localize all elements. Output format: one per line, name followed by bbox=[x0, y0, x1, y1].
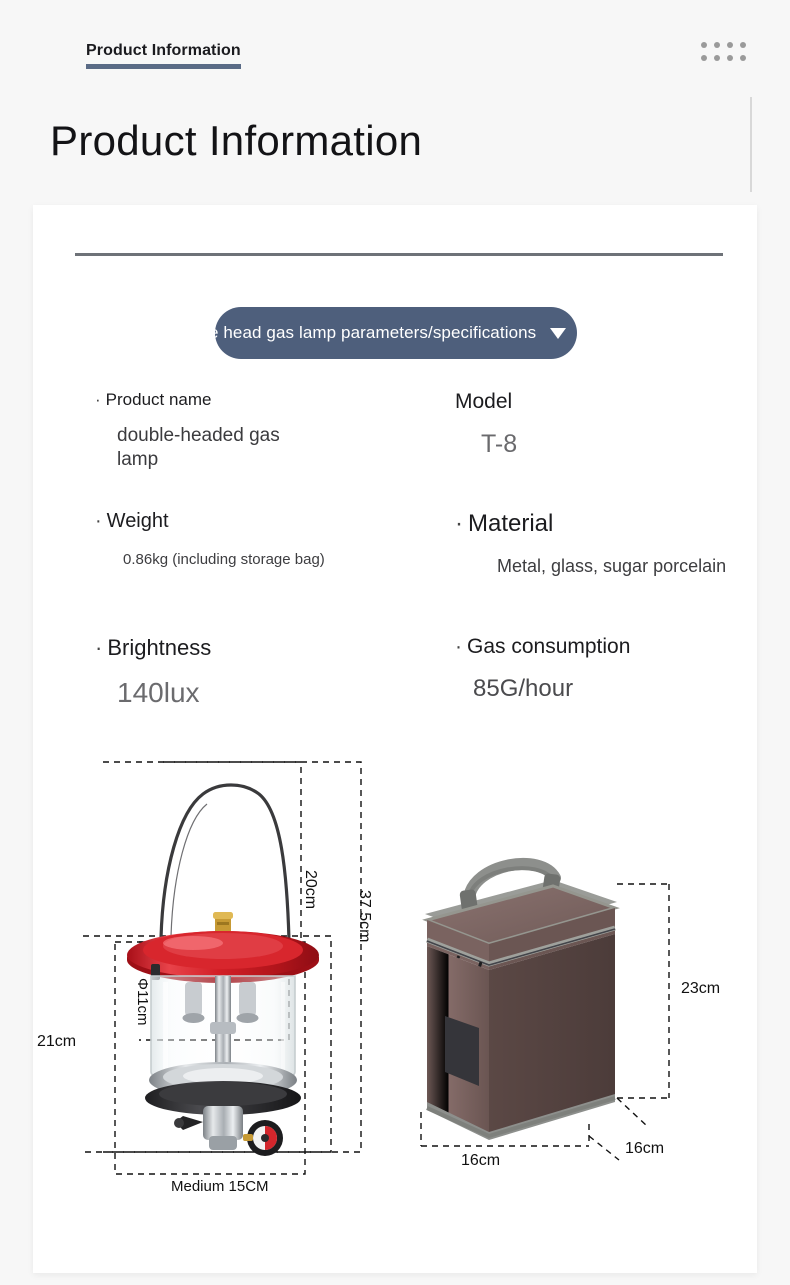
spec-label-text: Material bbox=[468, 510, 553, 537]
spec-model: Model T-8 bbox=[455, 390, 517, 460]
breadcrumb[interactable]: Product Information bbox=[86, 42, 241, 69]
spec-label: ·Weight bbox=[95, 510, 325, 533]
spec-label: ·Gas consumption bbox=[455, 635, 630, 659]
spec-label: ·Material bbox=[455, 510, 726, 538]
bullet-icon: · bbox=[95, 510, 102, 532]
spec-weight: ·Weight 0.86kg (including storage bag) bbox=[95, 510, 325, 568]
lamp-illustration bbox=[43, 750, 393, 1220]
bullet-icon: · bbox=[95, 635, 102, 660]
spec-label-text: Product name bbox=[106, 390, 212, 409]
dot bbox=[714, 55, 720, 61]
spec-label: Model bbox=[455, 390, 517, 414]
spec-label-text: Weight bbox=[107, 510, 169, 532]
dot bbox=[727, 55, 733, 61]
spec-value: Metal, glass, sugar porcelain bbox=[497, 556, 726, 577]
dot bbox=[740, 55, 746, 61]
dot bbox=[740, 42, 746, 48]
dot bbox=[727, 42, 733, 48]
spec-brightness: ·Brightness 140lux bbox=[95, 635, 211, 709]
parameters-banner-label: e head gas lamp parameters/specification… bbox=[215, 323, 536, 343]
dot bbox=[701, 55, 707, 61]
bag-diagram: 23cm 16cm 16cm bbox=[403, 840, 753, 1220]
spec-label-text: Gas consumption bbox=[467, 635, 630, 658]
top-bar: Product Information bbox=[0, 0, 790, 95]
triangle-down-icon bbox=[550, 328, 566, 339]
spec-label: ·Product name bbox=[95, 390, 280, 410]
spec-label-text: Brightness bbox=[107, 635, 211, 660]
spec-gas-consumption: ·Gas consumption 85G/hour bbox=[455, 635, 630, 703]
spec-value: 140lux bbox=[117, 677, 211, 709]
lamp-dim-handle-height: 20cm bbox=[301, 870, 319, 909]
spec-value: 0.86kg (including storage bag) bbox=[123, 551, 325, 568]
lamp-diagram: 20cm 37.5cm 21cm Φ11cm Medium 15CM bbox=[43, 750, 393, 1220]
vertical-accent-line bbox=[750, 97, 752, 192]
lamp-dim-width: Medium 15CM bbox=[171, 1178, 269, 1195]
dot bbox=[714, 42, 720, 48]
spec-material: ·Material Metal, glass, sugar porcelain bbox=[455, 510, 726, 577]
spec-label: ·Brightness bbox=[95, 635, 211, 661]
dimension-diagrams: 20cm 37.5cm 21cm Φ11cm Medium 15CM bbox=[33, 750, 757, 1250]
bag-illustration bbox=[403, 840, 753, 1220]
bag-dim-width: 16cm bbox=[461, 1152, 500, 1170]
spec-value: double-headed gas lamp bbox=[117, 424, 280, 473]
bullet-icon: · bbox=[455, 635, 462, 658]
parameters-banner[interactable]: e head gas lamp parameters/specification… bbox=[215, 307, 577, 359]
lamp-dim-total-height: 37.5cm bbox=[355, 890, 373, 942]
bag-dim-height: 23cm bbox=[681, 980, 720, 998]
dot-grid-icon[interactable] bbox=[701, 42, 746, 61]
spec-label-text: Model bbox=[455, 390, 512, 413]
bullet-icon: · bbox=[455, 510, 463, 537]
dot bbox=[701, 42, 707, 48]
spec-product-name: ·Product name double-headed gas lamp bbox=[95, 390, 280, 473]
bullet-icon: · bbox=[95, 390, 101, 409]
page-title: Product Information bbox=[50, 117, 422, 165]
bag-dim-depth: 16cm bbox=[625, 1140, 664, 1158]
spec-value: T-8 bbox=[481, 428, 517, 460]
product-info-card: e head gas lamp parameters/specification… bbox=[33, 205, 757, 1273]
spec-value: 85G/hour bbox=[473, 675, 630, 703]
lamp-dim-body-height: 21cm bbox=[37, 1033, 76, 1051]
lamp-dim-globe-diameter: Φ11cm bbox=[134, 978, 151, 1026]
section-divider bbox=[75, 253, 723, 256]
